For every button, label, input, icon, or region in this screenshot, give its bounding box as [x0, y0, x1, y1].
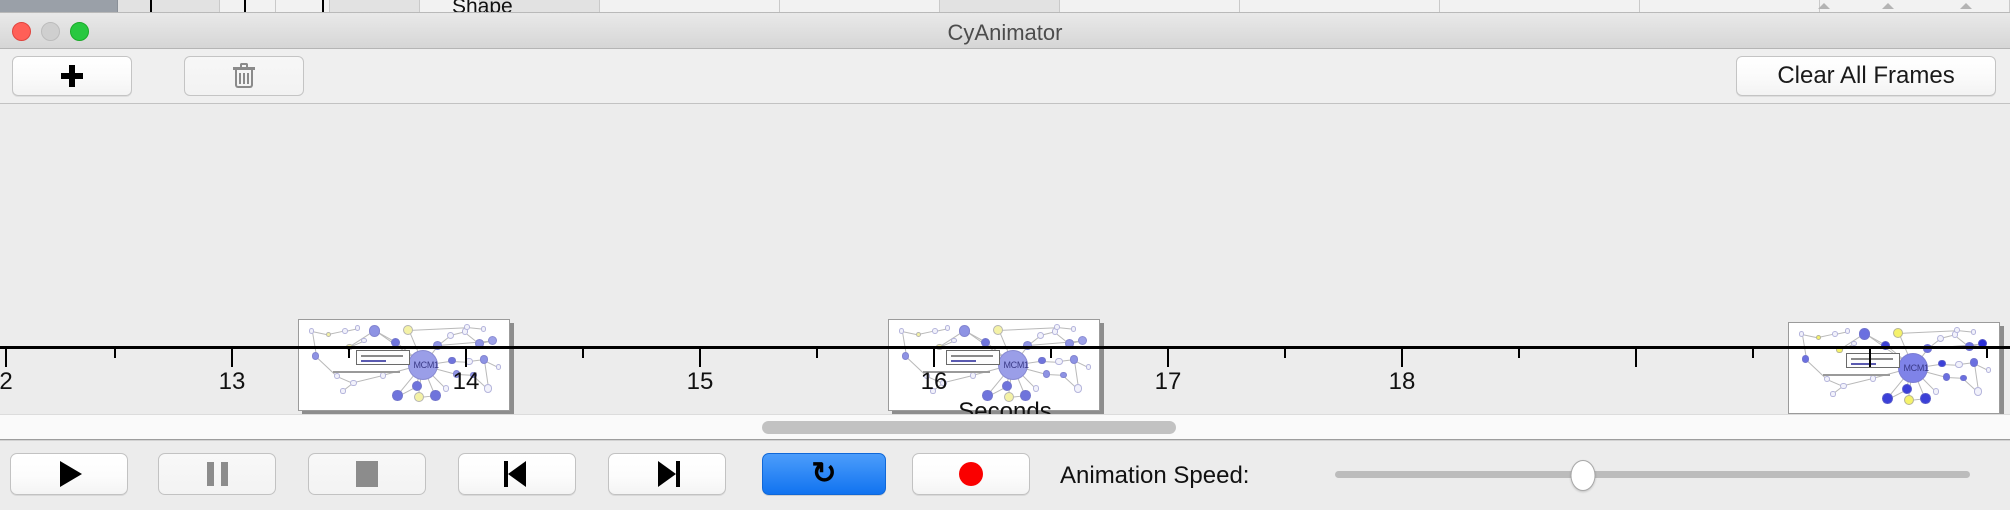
network-node: [899, 328, 905, 334]
network-node: [1799, 331, 1805, 337]
axis-tick: [348, 349, 350, 358]
stop-icon: [356, 461, 378, 487]
skip-start-button[interactable]: [458, 453, 576, 495]
network-node: [993, 325, 1003, 335]
network-node: [1937, 335, 1944, 342]
timeline-scrollbar-thumb[interactable]: [762, 421, 1176, 434]
window-title: CyAnimator: [0, 20, 2010, 46]
network-node: [447, 332, 454, 339]
axis-line: [0, 346, 2010, 349]
transport-bar: ↻ Animation Speed:: [0, 440, 2010, 508]
network-node: [916, 332, 922, 338]
network-node: [1078, 336, 1087, 345]
timeline-pane[interactable]: MCM1MCM1MCM1 2131415161718 Seconds: [0, 104, 2010, 414]
network-node: [1816, 335, 1822, 341]
plus-icon: [60, 64, 84, 88]
delete-frame-button[interactable]: [184, 56, 304, 96]
stop-button[interactable]: [308, 453, 426, 495]
axis-tick: [5, 349, 7, 367]
clear-all-frames-button[interactable]: Clear All Frames: [1736, 56, 1996, 96]
cyanimator-window: CyAnimator Clear All Frames: [0, 12, 2010, 510]
axis-tick-label: 15: [687, 368, 714, 396]
network-node: [481, 326, 486, 331]
play-button[interactable]: [10, 453, 128, 495]
axis-tick-label: 17: [1155, 368, 1182, 396]
network-node: [1054, 324, 1060, 330]
sort-arrow-icon: [1818, 3, 1830, 9]
axis-tick: [1986, 349, 1988, 358]
loop-icon: ↻: [811, 459, 836, 489]
axis-tick: [1284, 349, 1286, 358]
skip-end-button[interactable]: [608, 453, 726, 495]
pause-button[interactable]: [158, 453, 276, 495]
axis-tick: [582, 349, 584, 358]
timeline-axis: 2131415161718 Seconds: [0, 346, 2010, 414]
network-node: [932, 328, 938, 334]
axis-tick: [1050, 349, 1052, 358]
network-node: [361, 338, 366, 343]
network-node: [945, 325, 950, 330]
record-button[interactable]: [912, 453, 1030, 495]
network-edge: [1898, 330, 1957, 334]
network-node: [309, 328, 315, 334]
network-edge: [998, 327, 1057, 331]
axis-tick-label: 2: [0, 368, 13, 396]
network-node: [488, 336, 497, 345]
axis-tick: [933, 349, 935, 367]
trash-icon: [233, 63, 255, 89]
timeline-scrollbar[interactable]: [0, 414, 2010, 440]
axis-tick: [1752, 349, 1754, 358]
frame-toolbar: Clear All Frames: [0, 49, 2010, 104]
sort-arrow-icon: [1882, 3, 1894, 9]
animation-speed-slider[interactable]: [1335, 471, 1970, 478]
axis-tick: [1167, 349, 1169, 367]
network-node: [1832, 331, 1838, 337]
play-icon: [60, 461, 82, 487]
network-node: [1971, 329, 1976, 334]
axis-tick: [699, 349, 701, 367]
network-edge: [408, 327, 467, 331]
network-node: [403, 325, 413, 335]
axis-tick: [1401, 349, 1403, 367]
network-node: [1037, 332, 1044, 339]
axis-title: Seconds: [0, 398, 2010, 414]
axis-tick-label: 18: [1389, 368, 1416, 396]
slider-track[interactable]: [1335, 471, 1970, 478]
network-node: [369, 325, 381, 337]
network-node: [1954, 327, 1960, 333]
network-node: [959, 325, 971, 337]
screenshot-root: Shape CyAnimator: [0, 0, 2010, 510]
loop-button[interactable]: ↻: [762, 453, 886, 495]
axis-tick: [1635, 349, 1637, 367]
skip-forward-icon: [654, 461, 680, 487]
network-node: [1859, 328, 1871, 340]
axis-tick: [114, 349, 116, 358]
network-node: [355, 325, 360, 330]
axis-tick: [816, 349, 818, 358]
network-node: [1845, 328, 1850, 333]
axis-tick-label: 13: [219, 368, 246, 396]
axis-tick: [465, 349, 467, 367]
network-node: [342, 328, 348, 334]
slider-thumb[interactable]: [1570, 460, 1595, 491]
network-node: [951, 338, 956, 343]
window-titlebar[interactable]: CyAnimator: [0, 13, 2010, 49]
axis-tick-label: 14: [453, 368, 480, 396]
skip-back-icon: [504, 461, 530, 487]
sort-arrow-icon: [1960, 3, 1972, 9]
axis-tick: [1869, 349, 1871, 367]
network-node: [326, 332, 332, 338]
add-frame-button[interactable]: [12, 56, 132, 96]
axis-tick-label: 16: [921, 368, 948, 396]
network-node: [1071, 326, 1076, 331]
axis-tick: [1518, 349, 1520, 358]
network-node: [464, 324, 470, 330]
animation-speed-label: Animation Speed:: [1060, 462, 1249, 490]
pause-icon: [207, 462, 228, 486]
axis-tick: [231, 349, 233, 367]
network-node: [1893, 328, 1903, 338]
record-icon: [959, 462, 983, 486]
